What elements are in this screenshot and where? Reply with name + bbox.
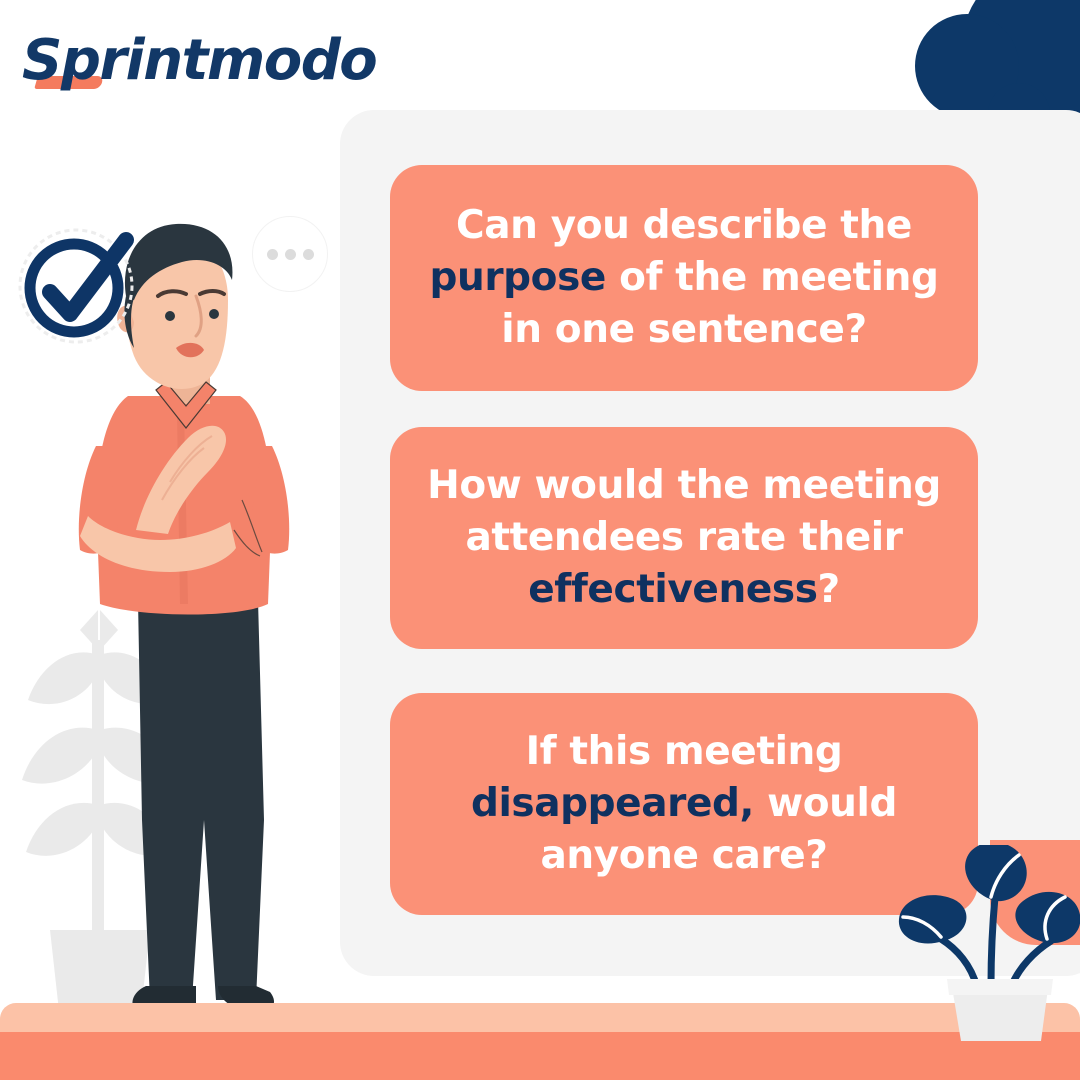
bubble-2-segment-2: ?	[818, 567, 840, 612]
chat-bubble-1[interactable]: Can you describe the purpose of the meet…	[390, 165, 978, 391]
bubble-3-segment-0: If this meeting	[526, 729, 843, 774]
chat-bubble-1-text: Can you describe the purpose of the meet…	[420, 200, 948, 356]
chat-bubble-2[interactable]: How would the meeting attendees rate the…	[390, 427, 978, 649]
typing-dot-1	[267, 249, 278, 260]
typing-dot-2	[285, 249, 296, 260]
typing-indicator-bubble	[252, 216, 328, 292]
poster-canvas: Sprintmodo Can you describe the purpose …	[0, 0, 1080, 1080]
bubble-2-segment-0: How would the meeting attendees rate the…	[427, 463, 941, 560]
chat-bubble-3[interactable]: If this meeting disappeared, would anyon…	[390, 693, 978, 915]
bubble-1-segment-0: Can you describe the	[456, 203, 912, 248]
logo-wordmark: Sprintmodo	[22, 33, 376, 89]
bubble-3-segment-1: disappeared,	[471, 781, 754, 826]
bubble-2-segment-1: effectiveness	[528, 567, 817, 612]
typing-dot-3	[303, 249, 314, 260]
corner-plant-icon	[895, 845, 1080, 1045]
brand-logo[interactable]: Sprintmodo	[22, 26, 376, 96]
verified-check-icon	[14, 222, 142, 350]
chat-bubble-3-text: If this meeting disappeared, would anyon…	[420, 726, 948, 882]
bubble-1-segment-1: purpose	[429, 255, 606, 300]
chat-bubble-2-text: How would the meeting attendees rate the…	[420, 460, 948, 616]
